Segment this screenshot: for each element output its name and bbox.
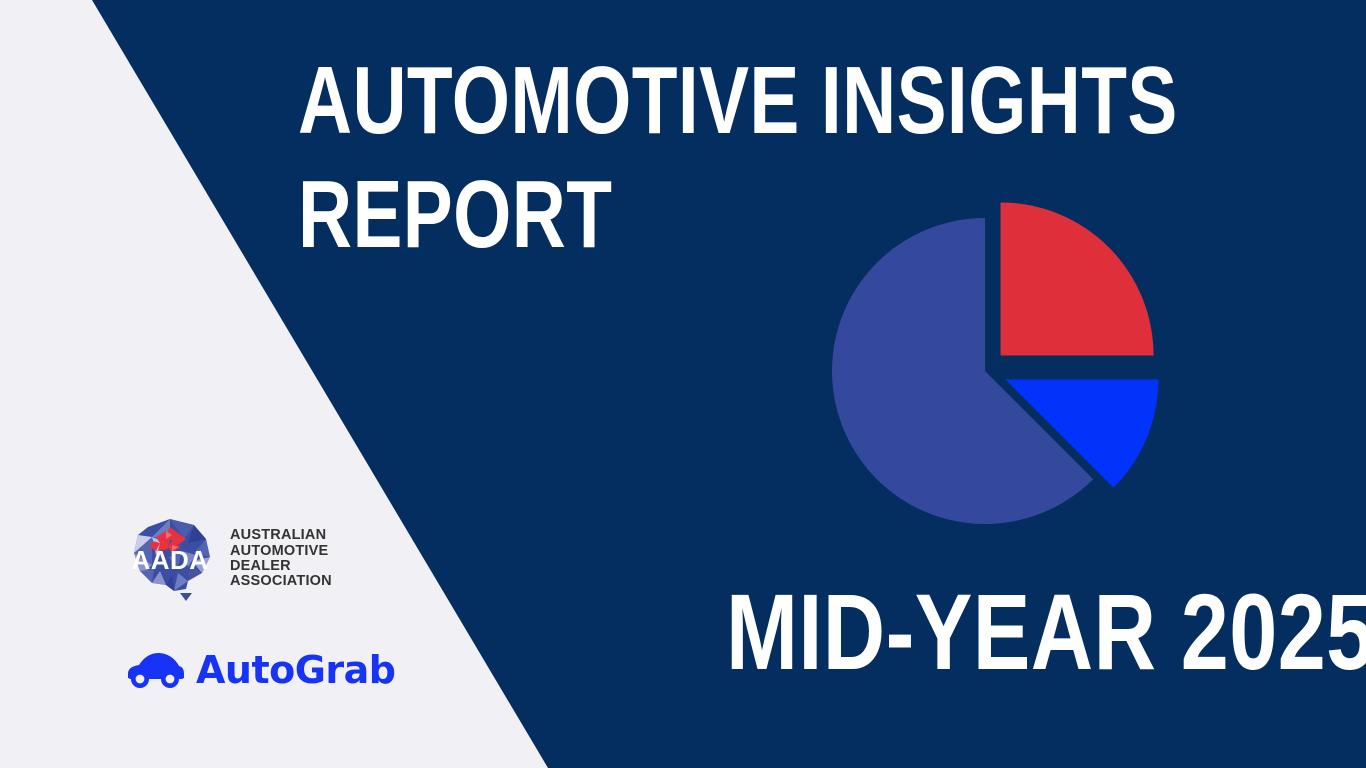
report-cover-slide: AUTOMOTIVE INSIGHTS REPORT MID-YEAR 2025 <box>0 0 1366 768</box>
australia-map-icon: AADA <box>122 509 218 605</box>
aada-logo: AADA AUSTRALIAN AUTOMOTIVE DEALER ASSOCI… <box>122 508 338 606</box>
aada-wordmark: AUSTRALIAN AUTOMOTIVE DEALER ASSOCIATION <box>230 524 332 589</box>
title-line-2: REPORT <box>298 168 906 262</box>
autograb-wordmark: AutoGrab <box>196 651 396 689</box>
svg-text:AADA: AADA <box>131 545 208 575</box>
autograb-logo: AutoGrab <box>124 648 396 692</box>
pie-chart <box>818 172 1184 536</box>
aada-word-line-1: AUSTRALIAN <box>230 528 332 543</box>
pie-slice-segment-a <box>1001 202 1154 355</box>
report-period-label: MID-YEAR 2025 <box>726 578 1222 686</box>
aada-word-line-3: DEALER <box>230 559 332 574</box>
aada-word-line-2: AUTOMOTIVE <box>230 544 332 559</box>
aada-word-line-4: ASSOCIATION <box>230 574 332 589</box>
car-icon <box>124 650 186 690</box>
report-period: MID-YEAR 2025 <box>726 578 1346 686</box>
title-line-1: AUTOMOTIVE INSIGHTS <box>298 54 906 148</box>
